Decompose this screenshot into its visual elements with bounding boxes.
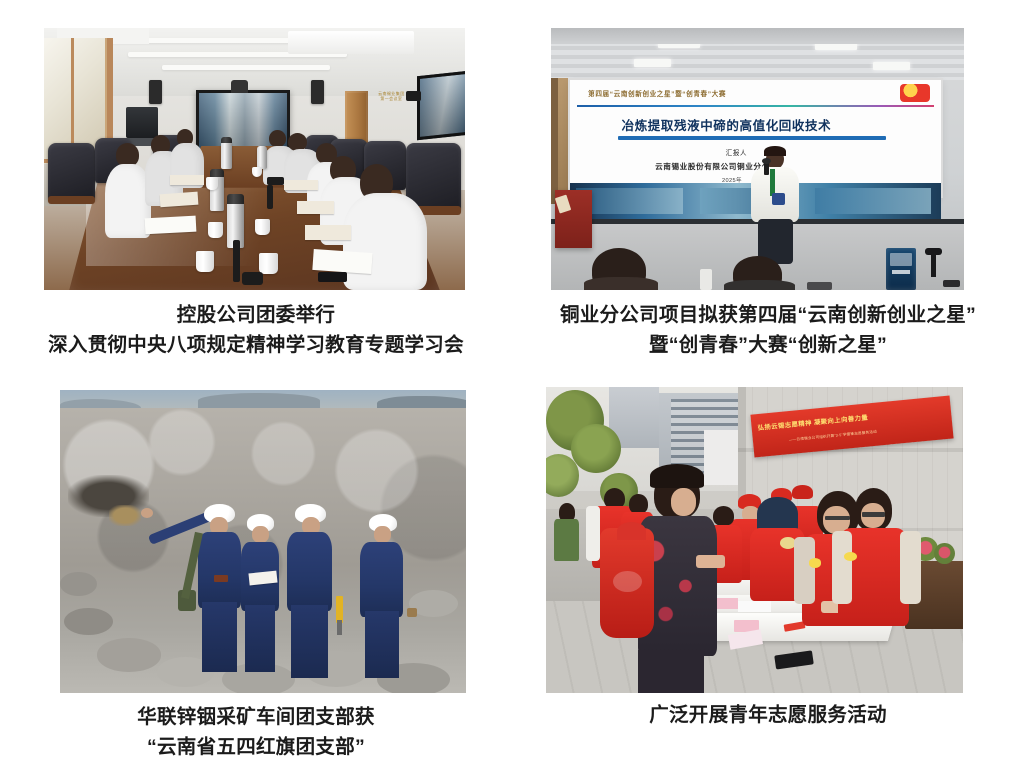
mine-site-workers-inspection-photo xyxy=(60,390,466,693)
caption-2-line-2: 暨“创青春”大赛“创新之星” xyxy=(512,330,1024,360)
caption-1: 控股公司团委举行 深入贯彻中央八项规定精神学习教育专题学习会 xyxy=(0,300,512,360)
competition-logo xyxy=(900,84,930,102)
banner-sub-text: ——云南锡业公司组织开展“3·5”学雷锋志愿服务活动 xyxy=(789,430,877,443)
slide-presenter: 汇报人 xyxy=(726,147,747,157)
photo-collage-page: 云南锡业集团第一会议室 xyxy=(0,0,1024,780)
caption-3-line-1: 华联锌铟采矿车间团支部获 xyxy=(0,702,512,732)
photo-cell-2: 第四届“云南创新创业之星”暨“创青春”大赛 冶炼提取残液中碲的高值化回收技术 汇… xyxy=(551,28,964,290)
conference-room-study-session-photo: 云南锡业集团第一会议室 xyxy=(44,28,465,290)
presentation-competition-speaker-photo: 第四届“云南创新创业之星”暨“创青春”大赛 冶炼提取残液中碲的高值化回收技术 汇… xyxy=(551,28,964,290)
caption-2: 铜业分公司项目拟获第四届“云南创新创业之星” 暨“创青春”大赛“创新之星” xyxy=(512,300,1024,360)
wall-plaque: 云南锡业集团第一会议室 xyxy=(364,91,419,101)
event-standee xyxy=(886,248,917,290)
caption-4-line-1: 广泛开展青年志愿服务活动 xyxy=(512,700,1024,730)
photo-cell-1: 云南锡业集团第一会议室 xyxy=(44,28,465,290)
youth-volunteer-service-activity-photo: 弘扬云锡志愿精神 凝聚向上向善力量 ——云南锡业公司组织开展“3·5”学雷锋志愿… xyxy=(546,387,963,693)
banner-main-text: 弘扬云锡志愿精神 凝聚向上向善力量 xyxy=(758,413,869,433)
caption-1-line-2: 深入贯彻中央八项规定精神学习教育专题学习会 xyxy=(0,330,512,360)
caption-3-line-2: “云南省五四红旗团支部” xyxy=(0,732,512,762)
caption-3: 华联锌铟采矿车间团支部获 “云南省五四红旗团支部” xyxy=(0,702,512,762)
caption-2-line-1: 铜业分公司项目拟获第四届“云南创新创业之星” xyxy=(512,300,1024,330)
slide-title: 冶炼提取残液中碲的高值化回收技术 xyxy=(622,115,832,134)
slide-header: 第四届“云南创新创业之星”暨“创青春”大赛 xyxy=(588,88,726,98)
caption-4: 广泛开展青年志愿服务活动 xyxy=(512,700,1024,730)
caption-1-line-1: 控股公司团委举行 xyxy=(0,300,512,330)
photo-cell-4: 弘扬云锡志愿精神 凝聚向上向善力量 ——云南锡业公司组织开展“3·5”学雷锋志愿… xyxy=(546,387,963,693)
photo-cell-3: 华联锌铟采矿车间团支部获 “云南省五四红旗团支部” xyxy=(60,390,466,693)
